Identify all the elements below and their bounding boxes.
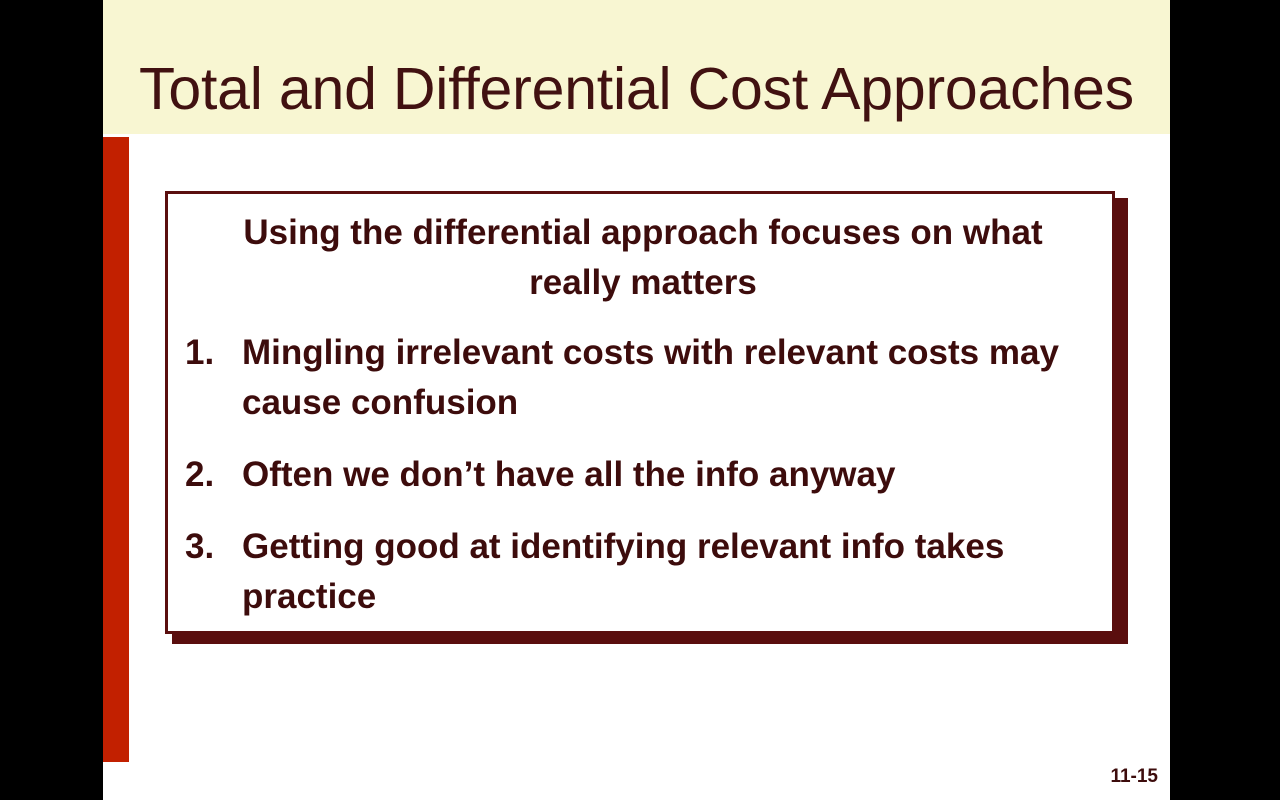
list-item-number: 3. [180, 522, 242, 572]
list-item: 1. Mingling irrelevant costs with releva… [180, 328, 1110, 428]
list-item: 2. Often we don’t have all the info anyw… [180, 450, 1110, 500]
numbered-list: 1. Mingling irrelevant costs with releva… [180, 328, 1110, 644]
letterbox-bottom-left [0, 768, 103, 800]
page-number: 11-15 [1088, 766, 1158, 788]
red-accent-bar [103, 137, 129, 762]
slide-title-band: Total and Differential Cost Approaches [103, 0, 1170, 134]
letterbox-left [0, 0, 103, 768]
slide-canvas: Total and Differential Cost Approaches U… [103, 0, 1170, 800]
letterbox-right [1170, 0, 1280, 800]
content-box-heading: Using the differential approach focuses … [194, 208, 1092, 308]
list-item-text: Getting good at identifying relevant inf… [242, 522, 1110, 622]
list-item: 3. Getting good at identifying relevant … [180, 522, 1110, 622]
list-item-number: 2. [180, 450, 242, 500]
content-box: Using the differential approach focuses … [165, 191, 1115, 634]
list-item-text: Often we don’t have all the info anyway [242, 450, 1110, 500]
slide-title: Total and Differential Cost Approaches [103, 57, 1170, 121]
list-item-text: Mingling irrelevant costs with relevant … [242, 328, 1110, 428]
presentation-slide: Total and Differential Cost Approaches U… [0, 0, 1280, 800]
list-item-number: 1. [180, 328, 242, 378]
